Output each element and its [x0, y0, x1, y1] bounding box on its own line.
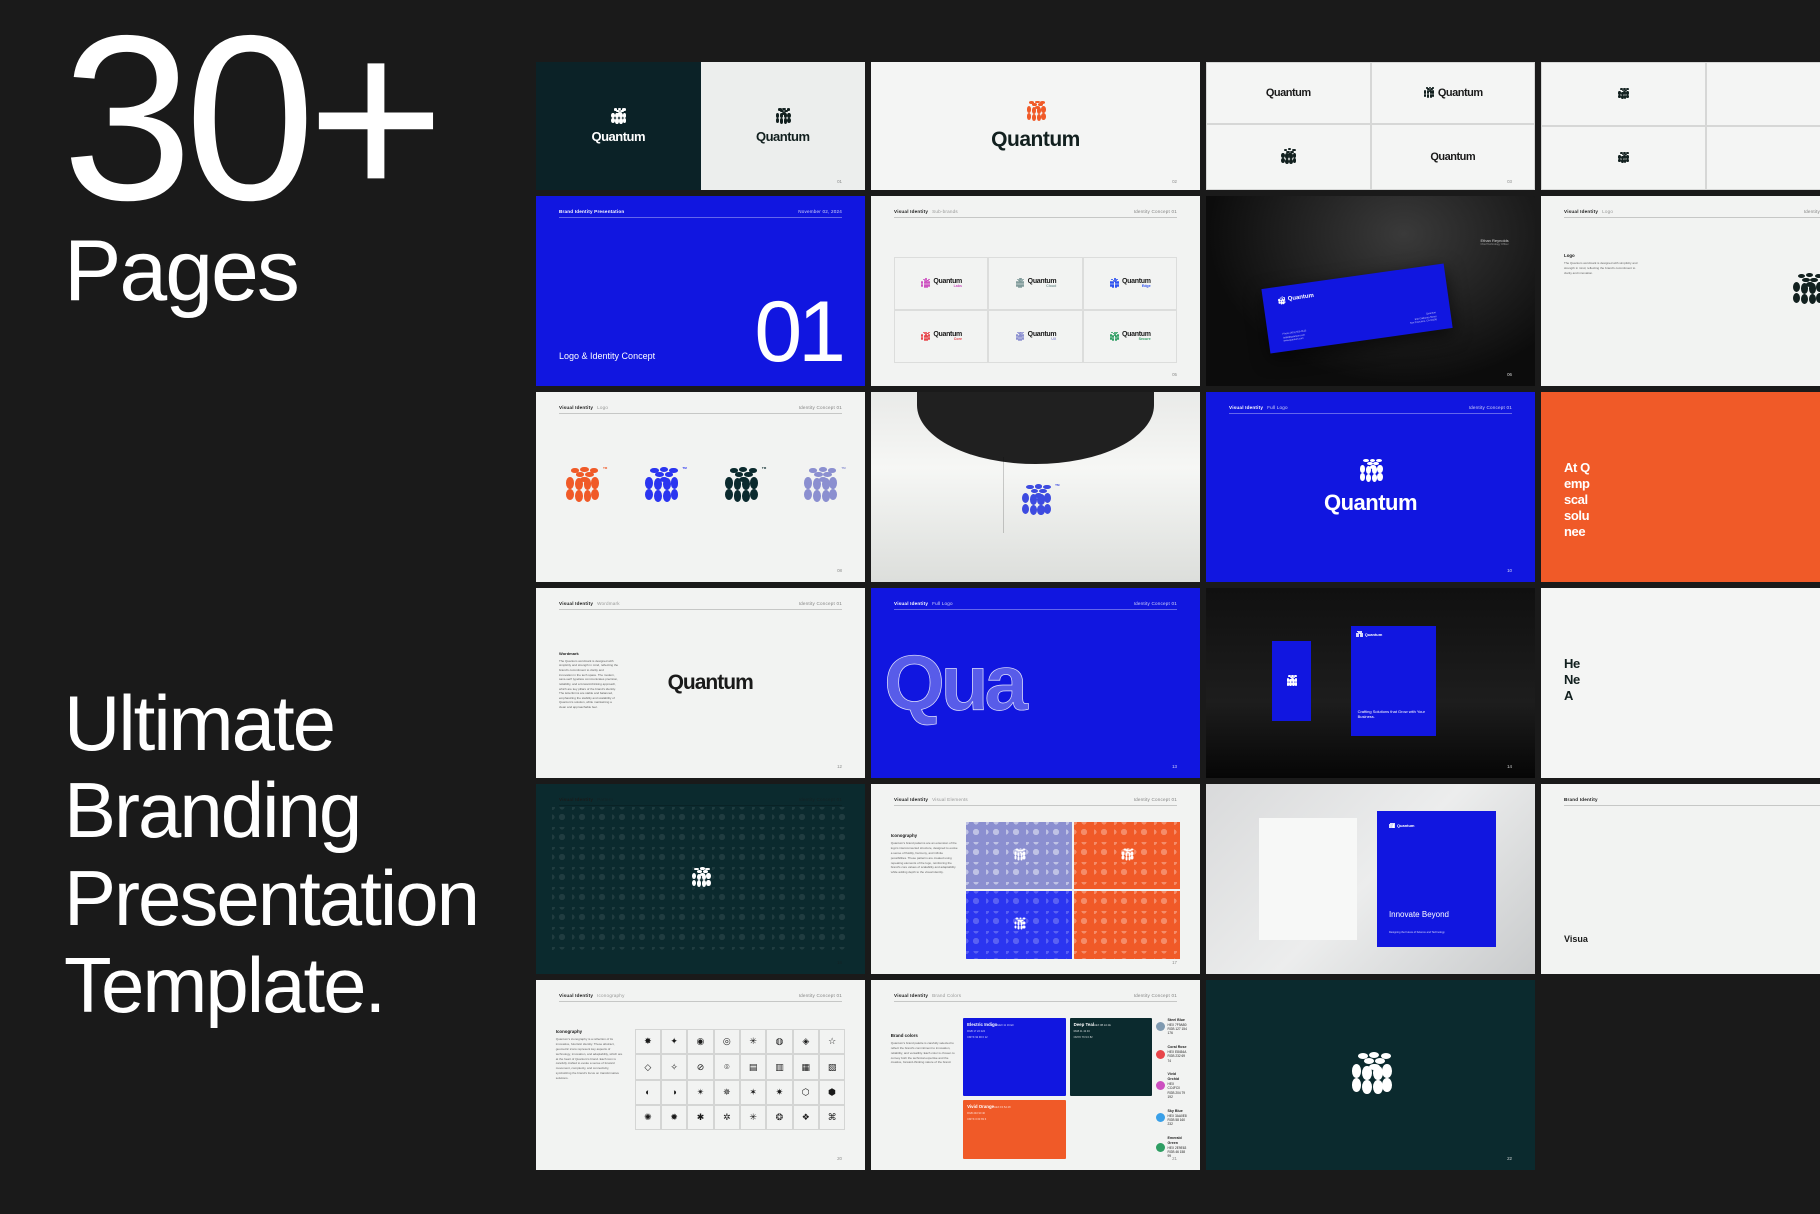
sub-brand-tag: Cloud: [1028, 285, 1057, 289]
swatch-name: Deep Teal: [1074, 1022, 1094, 1027]
slide-header: Brand Identity: [1564, 797, 1820, 806]
quantum-cube-icon: [1356, 631, 1363, 638]
icon-set-heading: Iconography: [556, 1029, 625, 1034]
accent-dot: [1156, 1050, 1165, 1059]
accent-sky-blue: Sky BlueHEX 3AA0E8RGB 58 160 232: [1156, 1109, 1187, 1127]
quantum-cube-icon: [1015, 332, 1025, 342]
slide-thumbnail-editorial-headline[interactable]: HeNeA15: [1541, 588, 1820, 778]
pattern-tile-3: [966, 891, 1072, 958]
pattern-center-logo: [690, 867, 712, 891]
quantum-cube-icon: [801, 467, 839, 505]
logo-variant-2: TM: [642, 467, 680, 507]
sub-brand-label: QuantumCore: [933, 331, 962, 342]
quantum-cube-icon: [1348, 1052, 1394, 1098]
slide-thumbnail-iconography-set[interactable]: Visual IdentityIconographyIdentity Conce…: [536, 980, 865, 1170]
slide-thumbnail-logo-on-teal[interactable]: TM22: [1206, 980, 1535, 1170]
colors-heading: Brand colors: [891, 1033, 957, 1038]
headline-line-2: emp: [1564, 476, 1820, 492]
slide-page-number: 14: [1507, 764, 1512, 769]
sub-brand-tag: Edge: [1122, 285, 1151, 289]
slide-thumbnail-business-card-mockup[interactable]: Ethan ReynoldsChief Technology OfficerQu…: [1206, 196, 1535, 386]
slide-header: Visual IdentityLogoIdentity Concept 01: [559, 405, 842, 414]
quantum-cube-icon: [1286, 675, 1298, 687]
quantum-cube-icon: [721, 467, 759, 505]
iconography-text-block: IconographyQuantum's brand patterns are …: [891, 833, 960, 875]
quantum-cube-icon: [920, 278, 930, 288]
slide-page-number: 06: [1507, 372, 1512, 377]
page-count-label: Pages: [64, 228, 298, 314]
slide-thumbnail-wordmark-anatomy[interactable]: Visual IdentityWordmarkIdentity Concept …: [536, 588, 865, 778]
slide-header: Visual IdentityFull LogoIdentity Concept…: [894, 601, 1177, 610]
logo-variation-cell-2: [1706, 62, 1820, 126]
iconography-heading: Iconography: [891, 833, 960, 838]
quantum-cube-icon: [1109, 332, 1119, 342]
swatch-column-secondary: Deep TealHEX 0B 2A 2ERGB 11 42 46CMYK 76…: [1070, 1018, 1152, 1159]
sub-brand-core: QuantumCore: [894, 310, 988, 363]
swatch-spacer: [1070, 1100, 1152, 1158]
sub-brand-label: QuantumSecure: [1122, 331, 1151, 342]
quantum-cube-icon: [1019, 484, 1053, 518]
quantum-cube-icon: [774, 108, 791, 125]
slide-thumbnail-pattern-dark[interactable]: Visual IdentityPatternIdentity Concept 0…: [536, 784, 865, 974]
glyph-icon-30: ❂: [766, 1105, 792, 1130]
cover-header: Brand Identity PresentationNovember 02, …: [559, 209, 842, 218]
slide-thumbnail-brand-identity-edge[interactable]: Brand IdentityVisua: [1541, 784, 1820, 974]
slide-page-number: 22: [1507, 1156, 1512, 1161]
slide-header-page: Identity Concept 01: [799, 601, 842, 606]
type-construction-glyphs: Qua: [884, 638, 1024, 729]
quantum-cube-icon: [1013, 848, 1026, 861]
tagline-line-4: Template.: [64, 942, 478, 1029]
slide-header: Visual IdentityPatternIdentity Concept 0…: [559, 797, 842, 806]
slide-thumbnail-title-cover[interactable]: Brand Identity PresentationNovember 02, …: [536, 196, 865, 386]
promo-left-panel: 30+ Pages Ultimate Branding Presentation…: [0, 0, 536, 1214]
glyph-icon-31: ❖: [793, 1105, 819, 1130]
slide-thumbnail-logo-grid-variations[interactable]: QuantumQuantumQuantum03: [1206, 62, 1535, 190]
quantum-cube-icon: [1109, 278, 1119, 288]
accent-label: Sky BlueHEX 3AA0E8RGB 58 160 232: [1168, 1109, 1187, 1127]
slide-kicker: Visual Identity: [894, 209, 928, 214]
signage-headline: Crafting Solutions that Grow with Your B…: [1358, 709, 1437, 719]
quantum-cube-icon: [1025, 101, 1047, 123]
promo-tagline: Ultimate Branding Presentation Template.: [64, 680, 478, 1029]
tagline-line-3: Presentation: [64, 855, 478, 942]
glyph-icon-23: ⬡: [793, 1080, 819, 1105]
quantum-cube-icon: [1121, 848, 1134, 861]
glyph-icon-21: ✶: [740, 1080, 766, 1105]
brochure-logo: Quantum: [1389, 823, 1415, 829]
slide-kicker: Visual Identity: [559, 797, 593, 802]
sub-brand-label: QuantumLabs: [933, 278, 962, 289]
glyph-icon-26: ✹: [661, 1105, 687, 1130]
slide-kicker: Visual Identity: [1564, 209, 1598, 214]
quantum-cube-icon: [642, 467, 680, 505]
pattern-quad-grid: [966, 822, 1180, 959]
glyph-icon-8: ☆: [819, 1029, 845, 1054]
slide-thumbnail-logo-lockup-split[interactable]: QuantumQuantum01: [536, 62, 865, 190]
headline-line-1: At Q: [1564, 460, 1820, 476]
pattern-tile-2: [1074, 822, 1180, 889]
slide-header: Visual IdentitySub-brandsIdentity Concep…: [894, 209, 1177, 218]
colors-body: Quantum's brand palette is carefully sel…: [891, 1041, 957, 1065]
slide-thumbnail-brochure-mockup[interactable]: QuantumInnovate BeyondDesigning the Futu…: [1206, 784, 1535, 974]
trademark-symbol: TM: [682, 466, 686, 470]
slide-page-number: 03: [1507, 179, 1512, 184]
pattern-tile-2-logo: [1121, 848, 1134, 863]
slide-page-number: 16: [837, 960, 842, 965]
quantum-cube-icon: [1790, 273, 1820, 307]
wordmark: Quantum: [1266, 87, 1311, 99]
sub-brand-ux: QuantumUX: [988, 310, 1082, 363]
accent-name: Vivid Orchid: [1168, 1072, 1187, 1082]
brochure-cover: QuantumInnovate BeyondDesigning the Futu…: [1377, 811, 1495, 948]
quantum-cube-icon: [1278, 296, 1287, 305]
slide-subkicker: Pattern: [597, 797, 613, 802]
pattern-tile-4: [1074, 891, 1180, 958]
editorial-headline: At Qempscalsolunee: [1564, 460, 1820, 539]
quantum-cube-icon: [1358, 459, 1384, 485]
slide-subkicker: Iconography: [597, 993, 624, 998]
logo-panel-1: Quantum: [536, 62, 701, 190]
signage-wordmark: Quantum: [1365, 632, 1383, 637]
headline-line-3: scal: [1564, 492, 1820, 508]
headline-line-3: A: [1564, 688, 1820, 704]
sub-brand-tag: Core: [933, 338, 962, 342]
subway-signage-mockup: QuantumCrafting Solutions that Grow with…: [1206, 588, 1535, 778]
sub-brand-label: QuantumUX: [1028, 331, 1057, 342]
slide-subkicker: Logo: [597, 405, 608, 410]
pattern-swatch: [552, 807, 848, 951]
accent-coral-rose: Coral RoseHEX E8454ARGB 232 69 74: [1156, 1045, 1187, 1063]
slide-thumbnail-brand-colors[interactable]: Visual IdentityBrand ColorsIdentity Conc…: [871, 980, 1200, 1170]
accent-label: Vivid OrchidHEX CC4FC0RGB 204 79 192: [1168, 1072, 1187, 1099]
accent-dot: [1156, 1113, 1165, 1122]
edge-doc-label: Visua: [1564, 934, 1588, 944]
wordmark: Quantum: [1430, 151, 1475, 163]
glyph-icon-19: ✴: [687, 1080, 713, 1105]
slide-page-number: 02: [1172, 179, 1177, 184]
slide-subkicker: Visual Elements: [932, 797, 968, 802]
tagline-line-1: Ultimate: [64, 680, 478, 767]
glyph-icon-24: ⬢: [819, 1080, 845, 1105]
headline-line-5: nee: [1564, 524, 1820, 540]
doc-logo: [1790, 273, 1820, 309]
quantum-cube-icon: [1280, 148, 1297, 165]
card-contact-left: Phone (415) 555-0123hello@quantum.comwww…: [1283, 329, 1308, 343]
hoodie-logo: TM: [1019, 484, 1053, 520]
glyph-icon-2: ✦: [661, 1029, 687, 1054]
pattern-tile-3-logo: [1013, 918, 1026, 933]
accent-label: Coral RoseHEX E8454ARGB 232 69 74: [1168, 1045, 1187, 1063]
centered-brandmark: TM: [1206, 980, 1535, 1170]
quantum-cube-icon: [1617, 152, 1629, 164]
glyph-icon-12: ⌾: [714, 1054, 740, 1079]
slide-kicker: Visual Identity: [894, 993, 928, 998]
slide-header: Visual IdentityBrand ColorsIdentity Conc…: [894, 993, 1177, 1002]
headline-line-2: Ne: [1564, 672, 1820, 688]
slide-header-page: Identity Concept 01: [799, 405, 842, 410]
sub-brand-labs: QuantumLabs: [894, 257, 988, 310]
card-wordmark-text: Quantum: [1288, 293, 1315, 303]
quantum-cube-icon: [920, 332, 930, 342]
slide-header: Visual IdentityLogoIdentity Concept 01: [1564, 209, 1820, 218]
card-person: Ethan ReynoldsChief Technology Officer: [1480, 238, 1508, 246]
glyph-icon-9: ◇: [635, 1054, 661, 1079]
swatch-vivid-orange: Vivid OrangeHEX F0 5A 28RGB 240 90 40CMY…: [963, 1100, 1065, 1158]
slide-kicker: Visual Identity: [894, 601, 928, 606]
slide-thumbnail-hoodie-mockup[interactable]: TM: [871, 392, 1200, 582]
accent-dot: [1156, 1022, 1165, 1031]
logo-variant-3: TM: [721, 467, 759, 507]
glyph-icon-14: ▥: [766, 1054, 792, 1079]
logo-color-row: TMTMTMTM: [562, 467, 838, 507]
glyph-icon-16: ▧: [819, 1054, 845, 1079]
promotional-banner: 30+ Pages Ultimate Branding Presentation…: [0, 0, 1820, 1214]
quantum-cube-icon: [562, 467, 600, 505]
cover-date: November 02, 2024: [798, 209, 842, 214]
slide-subkicker: Brand Colors: [932, 993, 961, 998]
icon-grid: ✸✦◉◎✳◍◈☆◇✧⊘⌾▤▥▦▧◐◑✴✵✶✷⬡⬢✺✹✱✲✳❂❖⌘: [635, 1029, 846, 1154]
trademark-symbol: TM: [1055, 483, 1059, 487]
wordmark-body: The Quantum wordmark is designed with si…: [559, 659, 618, 710]
glyph-icon-32: ⌘: [819, 1105, 845, 1130]
slide-page-number: 13: [1172, 764, 1177, 769]
slide-kicker: Brand Identity: [1564, 797, 1598, 802]
slide-page-number: 01: [837, 179, 842, 184]
cover-kicker: Brand Identity Presentation: [559, 209, 624, 214]
logo-panel-2: Quantum: [701, 62, 866, 190]
wordmark-heading: Wordmark: [559, 651, 618, 656]
slide-kicker: Visual Identity: [559, 405, 593, 410]
trademark-symbol: TM: [841, 466, 845, 470]
accent-name: Emerald Green: [1168, 1136, 1187, 1146]
icon-set-body: Quantum's iconography is a reflection of…: [556, 1037, 625, 1080]
swatch-column-primary: Electric IndigoHEX 11 16 E0RGB 17 22 224…: [963, 1018, 1065, 1159]
glyph-icon-3: ◉: [687, 1029, 713, 1054]
business-card: QuantumPhone (415) 555-0123hello@quantum…: [1262, 263, 1453, 353]
wordmark: Quantum: [1324, 490, 1417, 516]
wordmark-display: Quantum: [668, 671, 753, 695]
accent-dot: [1156, 1143, 1165, 1152]
icon-set-text-block: IconographyQuantum's iconography is a re…: [556, 1029, 625, 1080]
wordmark: Quantum: [591, 129, 645, 144]
slide-header-page: Identity Concept 01: [1469, 405, 1512, 410]
cover-caption: Logo & Identity Concept: [559, 351, 655, 361]
slide-header-page: Identity Concept 01: [1134, 209, 1177, 214]
sub-brand-tag: UX: [1028, 338, 1057, 342]
glyph-icon-13: ▤: [740, 1054, 766, 1079]
accent-dot: [1156, 1081, 1165, 1090]
pattern-tile-1: [966, 822, 1072, 889]
sub-brand-grid: QuantumLabsQuantumCloudQuantumEdgeQuantu…: [894, 257, 1177, 363]
brochure-inner-page: [1259, 818, 1358, 940]
slide-thumbnail-primary-logo-orange[interactable]: TMQuantum02: [871, 62, 1200, 190]
centered-logo-lockup: TMQuantum: [871, 62, 1200, 190]
brochure-wordmark: Quantum: [1397, 823, 1415, 828]
slide-subkicker: Wordmark: [597, 601, 620, 606]
logo-split-panels: QuantumQuantum: [536, 62, 865, 190]
slide-kicker: Visual Identity: [559, 993, 593, 998]
accent-name: Steel Blue: [1168, 1018, 1187, 1023]
page-count: 30+: [62, 10, 437, 226]
wordmark: Quantum: [1438, 87, 1483, 99]
wordmark-text-block: WordmarkThe Quantum wordmark is designed…: [559, 651, 618, 710]
glyph-icon-22: ✷: [766, 1080, 792, 1105]
colors-text-block: Brand colorsQuantum's brand palette is c…: [891, 1033, 957, 1065]
glyph-icon-6: ◍: [766, 1029, 792, 1054]
logo-variation-cell-3: [1541, 126, 1706, 190]
brochure-headline: Innovate Beyond: [1389, 911, 1449, 920]
signage-logo: Quantum: [1356, 631, 1432, 638]
logo-variation-cell-2: Quantum: [1371, 62, 1536, 124]
doc-body: The Quantum wordmark is designed with si…: [1564, 261, 1643, 275]
glyph-icon-5: ✳: [740, 1029, 766, 1054]
logo-variant-1: TM: [562, 467, 600, 507]
logo-variation-cell-4: [1706, 126, 1820, 190]
quantum-cube-icon: [1423, 87, 1435, 99]
sub-brand-tag: Secure: [1122, 338, 1151, 342]
swatch-name: Electric Indigo: [967, 1022, 997, 1027]
accent-steel-blue: Steel BlueHEX 7F9AB0RGB 127 154 176: [1156, 1018, 1187, 1036]
logo-variant-4: TM: [801, 467, 839, 507]
slide-thumbnail-iconography-patterns[interactable]: Visual IdentityVisual ElementsIdentity C…: [871, 784, 1200, 974]
slide-header-page: Identity Concept 01: [1134, 993, 1177, 998]
slide-subkicker: Full Logo: [1267, 405, 1288, 410]
slide-page-number: 21: [1172, 1156, 1177, 1161]
slide-header: Visual IdentityWordmarkIdentity Concept …: [559, 601, 842, 610]
accent-name: Coral Rose: [1168, 1045, 1187, 1050]
swatch-deep-teal: Deep TealHEX 0B 2A 2ERGB 11 42 46CMYK 76…: [1070, 1018, 1152, 1096]
slide-header: Visual IdentityIconographyIdentity Conce…: [559, 993, 842, 1002]
slide-page-number: 08: [837, 568, 842, 573]
accent-label: Steel BlueHEX 7F9AB0RGB 127 154 176: [1168, 1018, 1187, 1036]
slide-thumbnail-logo-color-variations[interactable]: Visual IdentityLogoIdentity Concept 01TM…: [536, 392, 865, 582]
signage-panel-main: QuantumCrafting Solutions that Grow with…: [1351, 626, 1437, 736]
slide-subkicker: Logo: [1602, 209, 1613, 214]
slide-page-number: 12: [837, 764, 842, 769]
glyph-icon-18: ◑: [661, 1080, 687, 1105]
glyph-icon-4: ◎: [714, 1029, 740, 1054]
glyph-icon-7: ◈: [793, 1029, 819, 1054]
card-wordmark: Quantum: [1278, 292, 1315, 305]
glyph-icon-25: ✺: [635, 1105, 661, 1130]
sub-brand-label: QuantumCloud: [1028, 278, 1057, 289]
glyph-icon-11: ⊘: [687, 1054, 713, 1079]
headline-line-4: solu: [1564, 508, 1820, 524]
slide-header-page: Identity Concept 01: [799, 797, 842, 802]
sub-brand-cloud: QuantumCloud: [988, 257, 1082, 310]
quantum-cube-icon: [690, 867, 712, 889]
slide-kicker: Visual Identity: [894, 797, 928, 802]
editorial-headline: HeNeA: [1564, 656, 1820, 704]
slide-page-number: 10: [1507, 568, 1512, 573]
signage-panel-left: [1272, 641, 1311, 721]
sub-brand-edge: QuantumEdge: [1083, 257, 1177, 310]
glyph-icon-20: ✵: [714, 1080, 740, 1105]
wordmark: Quantum: [991, 128, 1080, 152]
slide-thumbnail-type-construction[interactable]: Visual IdentityFull LogoIdentity Concept…: [871, 588, 1200, 778]
glyph-icon-28: ✲: [714, 1105, 740, 1130]
card-person-role: Chief Technology Officer: [1480, 243, 1508, 246]
glyph-icon-15: ▦: [793, 1054, 819, 1079]
business-card-mockup: Ethan ReynoldsChief Technology OfficerQu…: [1206, 196, 1535, 386]
glyph-icon-17: ◐: [635, 1080, 661, 1105]
brochure-mockup: QuantumInnovate BeyondDesigning the Futu…: [1206, 784, 1535, 974]
slide-page-number: 05: [1172, 372, 1177, 377]
slide-page-number: 20: [837, 1156, 842, 1161]
accent-color-list: Steel BlueHEX 7F9AB0RGB 127 154 176Coral…: [1156, 1018, 1187, 1159]
swatch-electric-indigo: Electric IndigoHEX 11 16 E0RGB 17 22 224…: [963, 1018, 1065, 1096]
quantum-cube-icon: [1389, 823, 1395, 829]
accent-vivid-orchid: Vivid OrchidHEX CC4FC0RGB 204 79 192: [1156, 1072, 1187, 1099]
quantum-cube-icon: [1015, 278, 1025, 288]
headline-line-1: He: [1564, 656, 1820, 672]
slide-kicker: Visual Identity: [559, 601, 593, 606]
glyph-icon-1: ✸: [635, 1029, 661, 1054]
slide-header-page: Identity Concept 01: [799, 993, 842, 998]
doc-text-block: LogoThe Quantum wordmark is designed wit…: [1564, 253, 1643, 275]
slide-thumbnail-sub-brands[interactable]: Visual IdentitySub-brandsIdentity Concep…: [871, 196, 1200, 386]
quantum-cube-icon: [1013, 918, 1026, 931]
sub-brand-secure: QuantumSecure: [1083, 310, 1177, 363]
sub-brand-label: QuantumEdge: [1122, 278, 1151, 289]
slide-subkicker: Full Logo: [932, 601, 953, 606]
logo-variation-grid-partial: [1541, 62, 1820, 190]
slide-header-page: Identity Concept 01: [1134, 601, 1177, 606]
slide-thumbnail-brand-statement-orange[interactable]: At Qempscalsolunee11: [1541, 392, 1820, 582]
cover-section-number: 01: [754, 298, 842, 367]
accent-name: Sky Blue: [1168, 1109, 1187, 1114]
trademark-symbol: TM: [762, 466, 766, 470]
quantum-cube-icon: [1617, 88, 1629, 100]
doc-heading: Logo: [1564, 253, 1643, 258]
slide-header: Visual IdentityFull LogoIdentity Concept…: [1229, 405, 1512, 414]
logo-variation-cell-1: [1541, 62, 1706, 126]
slide-kicker: Visual Identity: [1229, 405, 1263, 410]
slide-thumbnail-full-logo-blue[interactable]: Visual IdentityFull LogoIdentity Concept…: [1206, 392, 1535, 582]
hoodie-mockup: TM: [871, 392, 1200, 582]
glyph-icon-27: ✱: [687, 1105, 713, 1130]
logo-variation-grid: QuantumQuantumQuantum: [1206, 62, 1535, 190]
glyph-icon-10: ✧: [661, 1054, 687, 1079]
color-swatch-area: Electric IndigoHEX 11 16 E0RGB 17 22 224…: [963, 1018, 1187, 1159]
slide-header-page: Identity Concept 01: [1134, 797, 1177, 802]
slide-thumbnail-subway-signage[interactable]: QuantumCrafting Solutions that Grow with…: [1206, 588, 1535, 778]
slide-header-page: Identity Concept 01: [1804, 209, 1820, 214]
centered-logo-lockup: TMQuantum: [1206, 392, 1535, 582]
pattern-tile-1-logo: [1013, 848, 1026, 863]
slide-thumbnail-edge-slide-top[interactable]: 04: [1541, 62, 1820, 190]
wordmark: Quantum: [756, 129, 810, 144]
swatch-name: Vivid Orange: [967, 1104, 994, 1109]
iconography-body: Quantum's brand patterns are an extensio…: [891, 841, 960, 875]
slide-page-number: 17: [1172, 960, 1177, 965]
slide-header: Visual IdentityVisual ElementsIdentity C…: [894, 797, 1177, 806]
slide-thumbnail-grid[interactable]: QuantumQuantum01TMQuantum02QuantumQuantu…: [536, 0, 1820, 1214]
brochure-subtitle: Designing the Future of Science and Tech…: [1389, 931, 1445, 935]
logo-variation-cell-3: [1206, 124, 1371, 191]
slide-thumbnail-logo-construction-doc[interactable]: Visual IdentityLogoIdentity Concept 01Lo…: [1541, 196, 1820, 386]
card-contact-right: Quantum840 California StreetSan Francisc…: [1409, 311, 1437, 325]
accent-label: Emerald GreenHEX 2E9E63RGB 46 158 99: [1168, 1136, 1187, 1159]
slide-subkicker: Sub-brands: [932, 209, 958, 214]
glyph-icon-29: ✳: [740, 1105, 766, 1130]
trademark-symbol: TM: [603, 466, 607, 470]
logo-variation-cell-1: Quantum: [1206, 62, 1371, 124]
sub-brand-tag: Labs: [933, 285, 962, 289]
tagline-line-2: Branding: [64, 767, 478, 854]
quantum-cube-icon: [610, 108, 627, 125]
